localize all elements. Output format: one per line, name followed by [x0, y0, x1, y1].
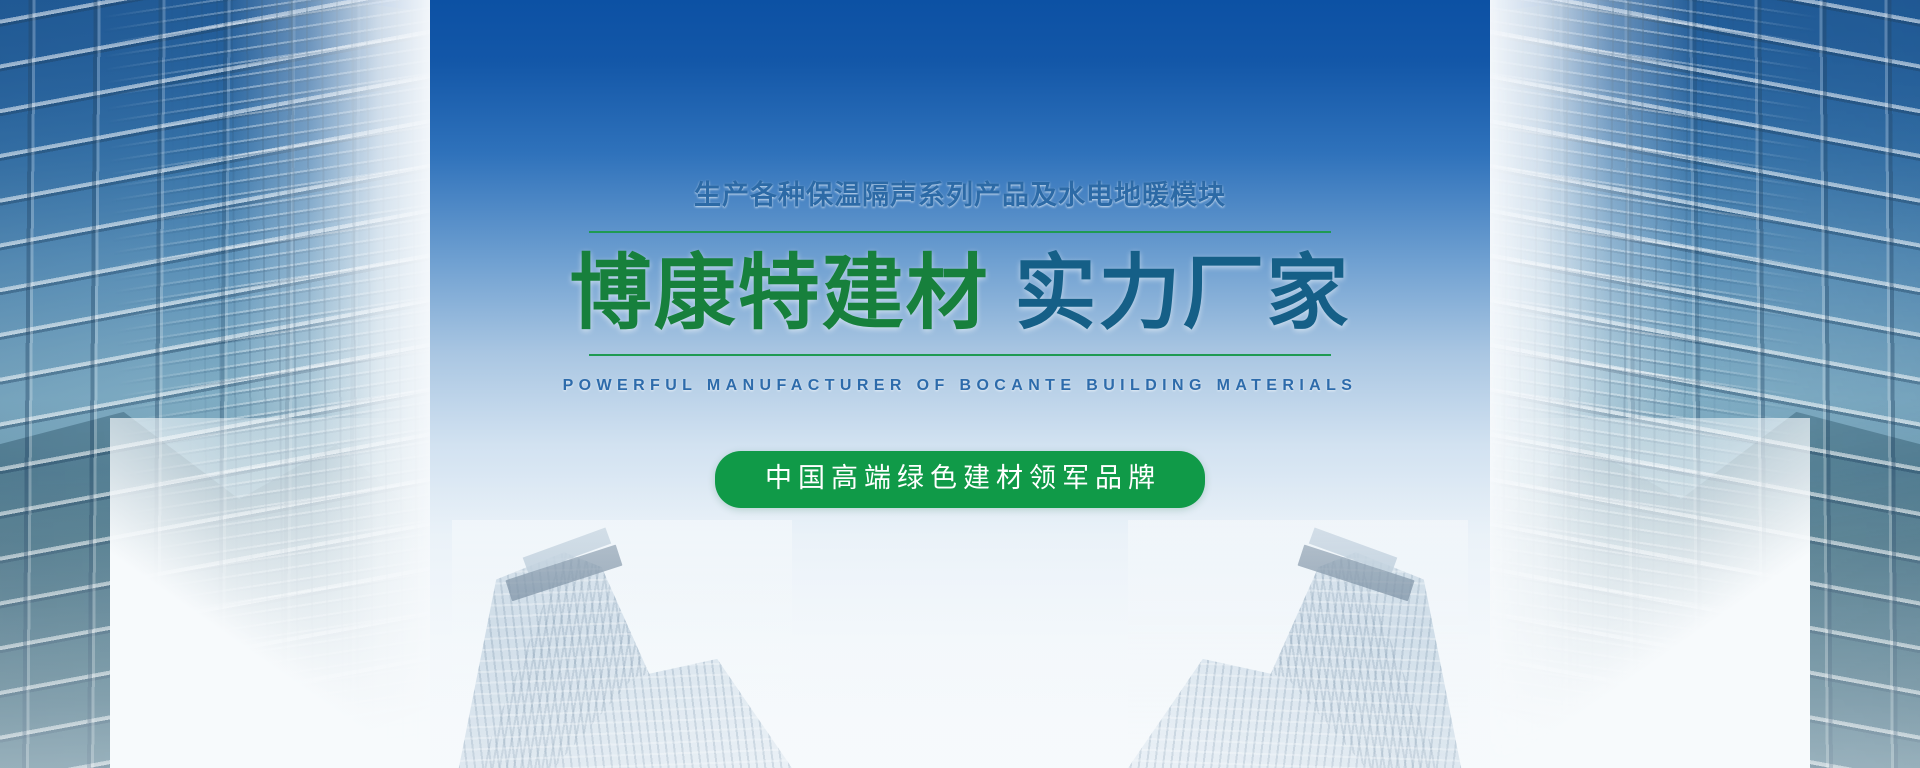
divider-rule-bottom	[589, 354, 1331, 356]
banner-headline: 博康特建材 实力厂家	[570, 251, 1351, 338]
headline-brand-name: 博康特建材	[570, 248, 990, 339]
brand-badge: 中国高端绿色建材领军品牌	[715, 451, 1205, 508]
banner-content: 生产各种保温隔声系列产品及水电地暖模块 博康特建材 实力厂家 POWERFUL …	[0, 0, 1920, 768]
banner-subtitle: 生产各种保温隔声系列产品及水电地暖模块	[694, 182, 1226, 209]
headline-claim: 实力厂家	[1014, 248, 1350, 339]
divider-rule-top	[589, 231, 1331, 233]
hero-banner: 生产各种保温隔声系列产品及水电地暖模块 博康特建材 实力厂家 POWERFUL …	[0, 0, 1920, 768]
banner-english-tagline: POWERFUL MANUFACTURER OF BOCANTE BUILDIN…	[563, 377, 1358, 395]
